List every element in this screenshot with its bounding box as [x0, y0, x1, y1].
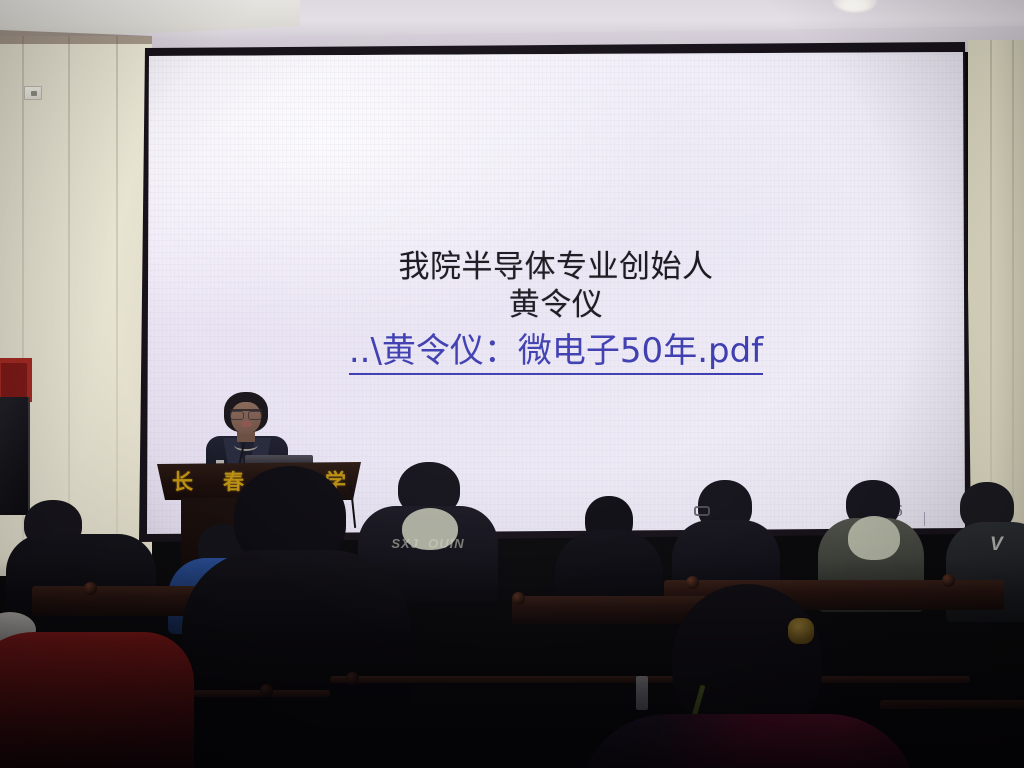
woman-shoulders — [578, 714, 918, 768]
slide-title-line-2: 黄令仪 — [509, 285, 604, 325]
glasses-icon — [694, 506, 710, 516]
student-hood — [848, 516, 900, 560]
bench-knob — [686, 576, 699, 589]
side-monitor-display — [0, 397, 30, 515]
light-switch-plate[interactable] — [24, 86, 42, 100]
bench-knob — [942, 574, 955, 587]
red-framed-board — [0, 358, 32, 402]
hair-clip-icon — [788, 618, 814, 644]
bench-knob — [84, 582, 97, 595]
list-item — [182, 466, 410, 706]
speaker-necklace — [234, 439, 258, 451]
bench-knob — [260, 684, 273, 697]
phone-screen-glow — [636, 676, 648, 710]
student-shoulders — [0, 632, 194, 768]
slide-pdf-hyperlink[interactable]: ..\黄令仪：微电子50年.pdf — [349, 330, 763, 376]
bench-knob — [512, 592, 525, 605]
bench-knob — [346, 672, 359, 685]
slide-edge-tick — [924, 512, 925, 526]
bench-rail-right-front — [880, 700, 1024, 709]
slide-title-line-1: 我院半导体专业创始人 — [399, 247, 714, 287]
jacket-logo-icon: V — [990, 534, 1012, 554]
glasses-icon — [230, 409, 262, 416]
list-item — [0, 612, 204, 768]
speaker-mouth — [241, 421, 252, 427]
lecture-hall-photo: 我院半导体专业创始人 黄令仪 ..\黄令仪：微电子50年.pdf 6 长 春 大… — [0, 0, 1024, 768]
list-item — [600, 640, 920, 768]
